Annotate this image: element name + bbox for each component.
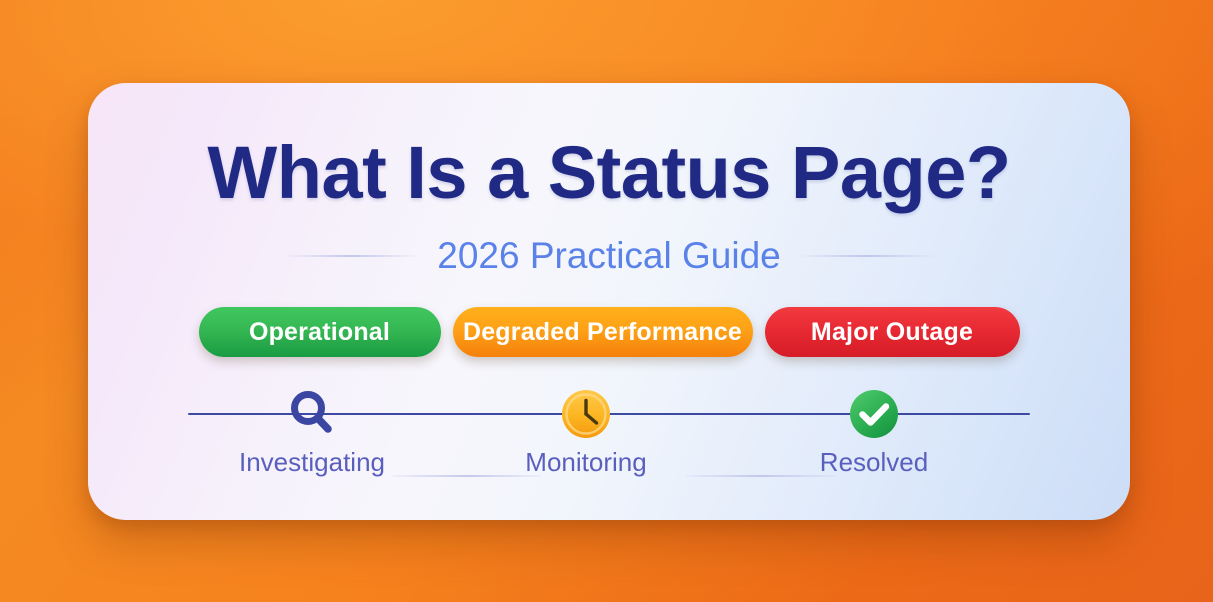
timeline-step-monitoring-label: Monitoring [525,447,646,478]
subtitle-rule-left [281,255,421,257]
timeline-step-monitoring-icon-wrap [559,383,613,445]
timeline-step-monitoring[interactable]: Monitoring [506,383,666,478]
timeline-step-investigating[interactable]: Investigating [232,383,392,478]
magnifier-icon [283,385,341,443]
status-pill-group: Operational Degraded Performance Major O… [88,307,1130,357]
subtitle-row: 2026 Practical Guide [88,235,1130,277]
incident-timeline: Investigating [188,383,1030,493]
page-subtitle: 2026 Practical Guide [437,235,780,277]
status-pill-degraded-performance[interactable]: Degraded Performance [453,307,753,357]
status-page-card: What Is a Status Page? 2026 Practical Gu… [88,83,1130,520]
subtitle-rule-right [797,255,937,257]
timeline-step-investigating-icon-wrap [283,383,341,445]
page-title: What Is a Status Page? [88,130,1130,215]
timeline-step-investigating-label: Investigating [239,447,385,478]
timeline-step-resolved-label: Resolved [820,447,928,478]
status-pill-operational[interactable]: Operational [199,307,441,357]
clock-icon [559,387,613,441]
timeline-step-resolved-icon-wrap [847,383,901,445]
poster-canvas: What Is a Status Page? 2026 Practical Gu… [0,0,1213,602]
timeline-step-resolved[interactable]: Resolved [794,383,954,478]
check-circle-icon [847,387,901,441]
status-pill-major-outage[interactable]: Major Outage [765,307,1020,357]
